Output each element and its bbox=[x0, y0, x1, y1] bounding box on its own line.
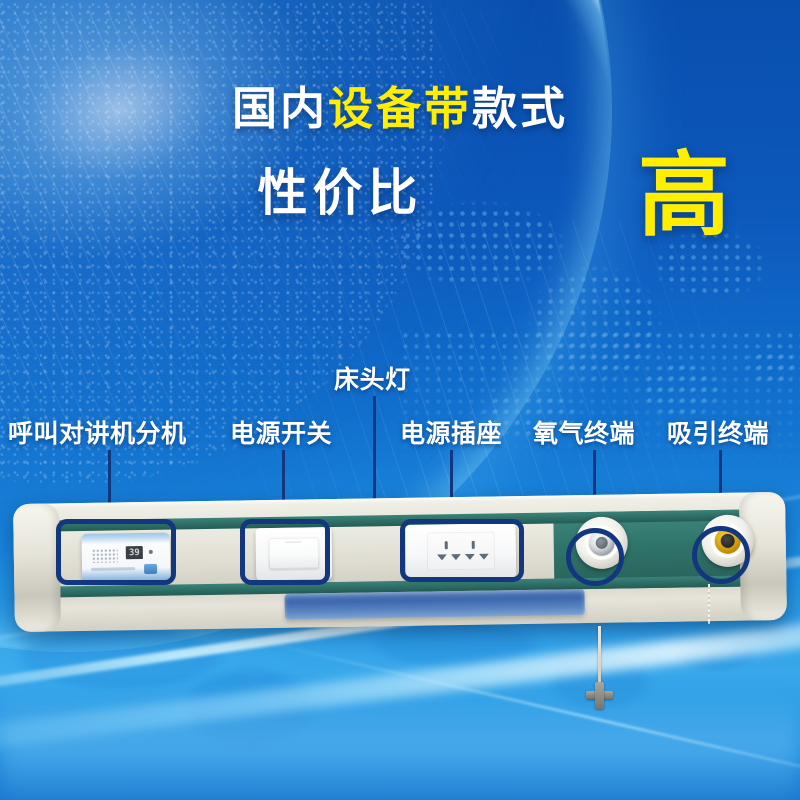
light-rays-secondary bbox=[230, 220, 750, 520]
highlight-circle-oxygen bbox=[566, 528, 624, 586]
lens-flare bbox=[0, 0, 360, 306]
pull-cord-grip-icon[interactable] bbox=[586, 682, 613, 709]
callout-label-intercom: 呼叫对讲机分机 bbox=[8, 414, 187, 450]
halftone-world-map-lower bbox=[400, 330, 800, 480]
headline-part-2: 设备带 bbox=[328, 82, 472, 135]
suction-port-lanyard bbox=[708, 584, 710, 624]
callout-label-outlet: 电源插座 bbox=[400, 414, 502, 450]
world-map-silhouette bbox=[0, 612, 800, 800]
headline: 国内设备带款式 bbox=[0, 86, 800, 131]
promo-banner: 国内设备带款式 性价比 高 呼叫对讲机分机 电源开关 床头灯 电源插座 氧气终端… bbox=[0, 0, 800, 800]
pull-cord[interactable] bbox=[598, 626, 601, 688]
headline-part-3: 款式 bbox=[472, 82, 568, 135]
light-rays bbox=[0, 10, 500, 430]
horizon-glow bbox=[0, 690, 800, 800]
grip-bar-vertical bbox=[595, 682, 604, 709]
callout-label-oxygen: 氧气终端 bbox=[533, 414, 635, 450]
highlight-box-outlet bbox=[400, 519, 524, 582]
subheadline: 性价比 bbox=[60, 168, 620, 218]
highlight-box-switch bbox=[240, 519, 330, 585]
headline-emphasis-char: 高 bbox=[638, 150, 730, 242]
callout-label-switch: 电源开关 bbox=[230, 414, 332, 450]
light-streak-diagonal bbox=[260, 640, 800, 800]
highlight-circle-suction bbox=[692, 526, 750, 584]
callout-label-suction: 吸引终端 bbox=[667, 414, 769, 450]
highlight-box-intercom bbox=[56, 519, 176, 585]
bed-lamp-diffuser bbox=[284, 589, 584, 620]
headline-part-1: 国内 bbox=[232, 82, 328, 135]
callout-label-bedlamp: 床头灯 bbox=[334, 360, 411, 396]
panel-end-cap-left bbox=[13, 503, 61, 632]
